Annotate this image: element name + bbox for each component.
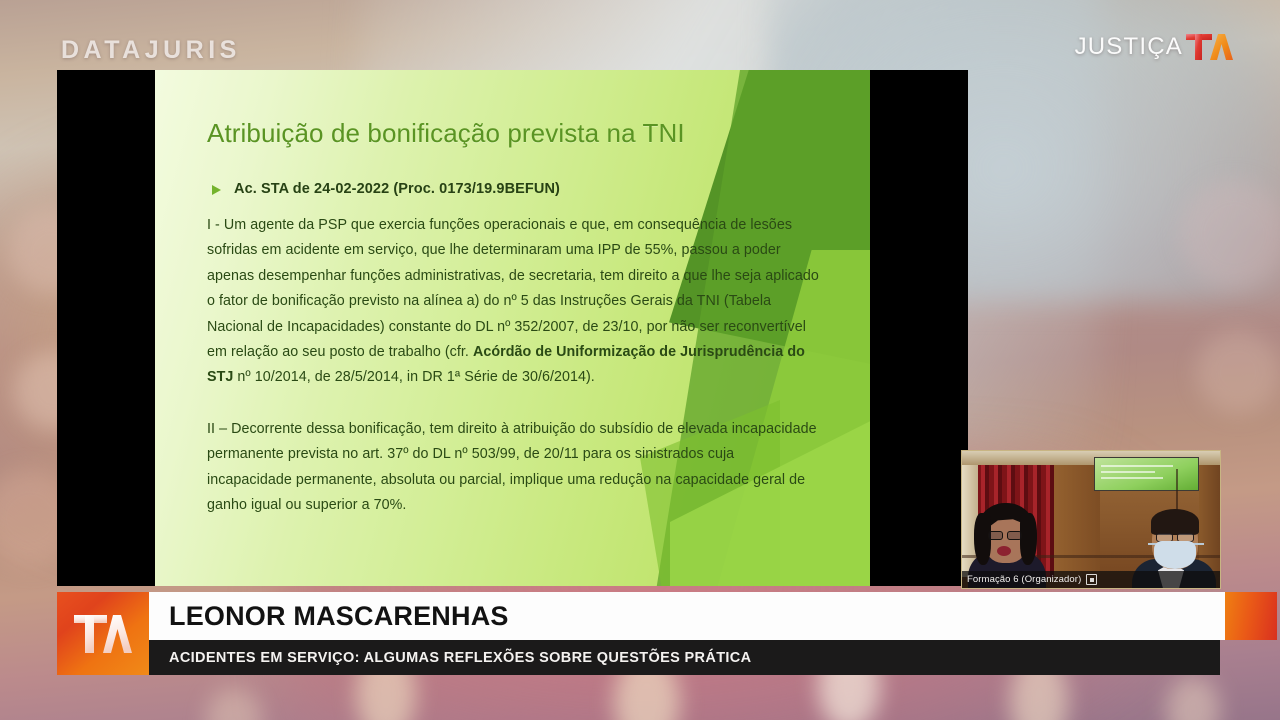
justica-ta-logo: JUSTIÇA (1075, 32, 1234, 62)
triangle-bullet-icon (212, 185, 221, 195)
bokeh-circle (1180, 180, 1280, 288)
session-subtitle: ACIDENTES EM SERVIÇO: ALGUMAS REFLEXÕES … (169, 650, 751, 666)
ta-monogram-icon (1184, 32, 1234, 62)
slide-paragraph-one: I - Um agente da PSP que exercia funções… (207, 213, 822, 391)
subtitle-bar: ACIDENTES EM SERVIÇO: ALGUMAS REFLEXÕES … (149, 640, 1220, 675)
pip-label-bar: Formação 6 (Organizador) (962, 571, 1220, 588)
paragraph-one-text-b: nº 10/2014, de 28/5/2014, in DR 1ª Série… (233, 369, 594, 385)
paragraph-one-text-a: I - Um agente da PSP que exercia funções… (207, 217, 819, 360)
speaker-name-bar: LEONOR MASCARENHAS (149, 592, 1225, 640)
justica-logo-text: JUSTIÇA (1075, 33, 1183, 61)
pip-participant-label: Formação 6 (Organizador) (967, 574, 1081, 585)
pin-icon[interactable] (1086, 574, 1097, 585)
video-stage[interactable]: Atribuição de bonificação prevista na TN… (57, 70, 968, 586)
bokeh-circle (1196, 330, 1280, 414)
wood-panel (1199, 465, 1221, 577)
slide-bullet-item: Ac. STA de 24-02-2022 (Proc. 0173/19.9BE… (212, 181, 822, 197)
slide-content: Atribuição de bonificação prevista na TN… (155, 70, 870, 518)
participant-left-mouth (997, 546, 1011, 556)
ta-logo-badge (57, 592, 149, 675)
accent-gradient-block (1225, 592, 1277, 640)
presentation-slide: Atribuição de bonificação prevista na TN… (155, 70, 870, 586)
participant-right-face-mask (1154, 541, 1196, 569)
projection-screen (1094, 457, 1199, 491)
participant-left-glasses (1007, 531, 1022, 540)
slide-title: Atribuição de bonificação prevista na TN… (207, 118, 822, 149)
slide-bullet-label: Ac. STA de 24-02-2022 (Proc. 0173/19.9BE… (234, 181, 560, 197)
slide-paragraph-two: II – Decorrente dessa bonificação, tem d… (207, 417, 822, 519)
lower-third-subtitle-row: ACIDENTES EM SERVIÇO: ALGUMAS REFLEXÕES … (149, 640, 1277, 675)
participant-right-hair (1151, 509, 1199, 535)
ta-monogram-icon (72, 612, 134, 656)
participant-left-hair (1020, 513, 1037, 565)
datajuris-watermark: DATAJURIS (61, 36, 241, 65)
lower-third-banner: LEONOR MASCARENHAS ACIDENTES EM SERVIÇO:… (57, 592, 1277, 675)
speaker-name: LEONOR MASCARENHAS (169, 601, 509, 632)
webcam-pip-tile[interactable]: Formação 6 (Organizador) (961, 450, 1221, 589)
lower-third-name-row: LEONOR MASCARENHAS (57, 592, 1277, 640)
participant-left-glasses (988, 531, 1003, 540)
